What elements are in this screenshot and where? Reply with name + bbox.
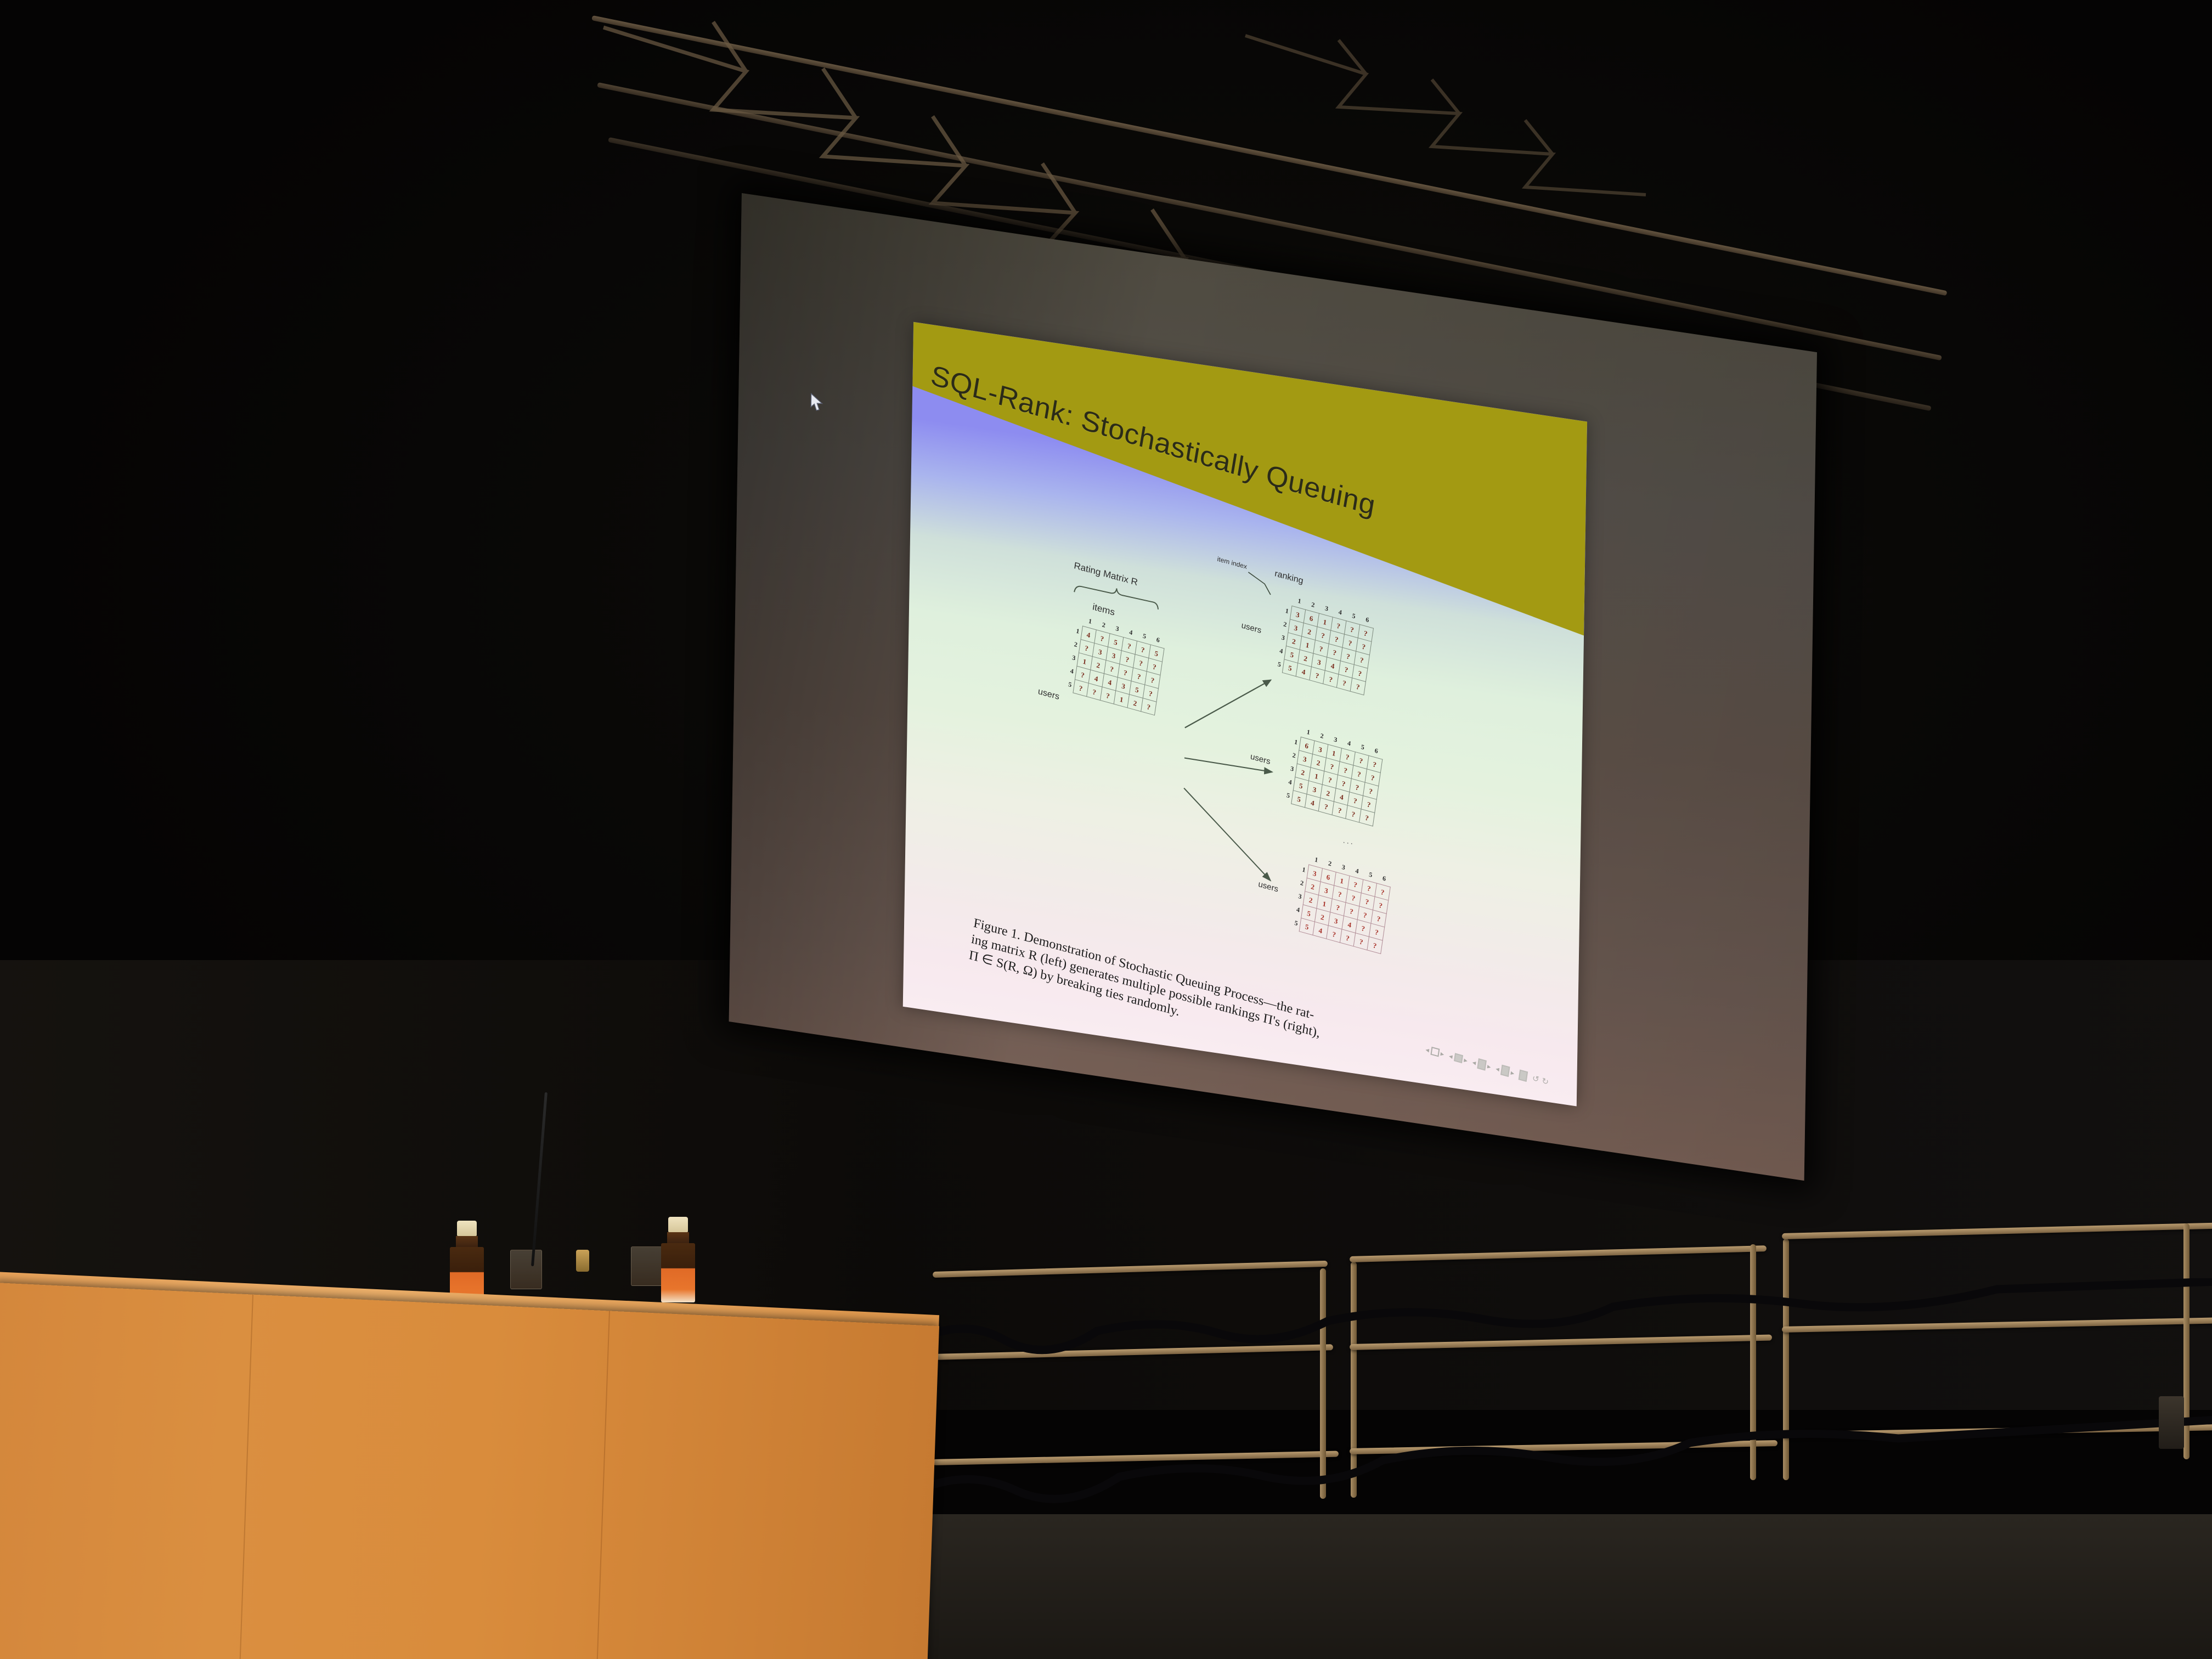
nav-slide-icon[interactable]: [1430, 1047, 1440, 1057]
podium: [0, 1283, 939, 1659]
nav-prev-icon[interactable]: ◂: [1425, 1045, 1430, 1054]
projection-screen-surround: SQL-Rank: Stochastically Queuing: [729, 193, 1817, 1181]
bottle-body-right: [661, 1243, 695, 1302]
tea-bottle-right: [661, 1217, 695, 1302]
nav-next-subsection-icon[interactable]: ▸: [1463, 1056, 1468, 1065]
nav-next-icon[interactable]: ▸: [1440, 1049, 1444, 1058]
bottle-neck: [456, 1236, 478, 1247]
nav-document-icon[interactable]: [1500, 1064, 1509, 1077]
nav-next-document-icon[interactable]: ▸: [1510, 1068, 1515, 1077]
presentation-slide: SQL-Rank: Stochastically Queuing: [903, 322, 1587, 1107]
nav-section-icon[interactable]: [1477, 1058, 1486, 1071]
bottle-neck-right: [667, 1232, 689, 1243]
podium-seam-2: [596, 1311, 611, 1659]
beamer-navigation-bar[interactable]: ◂ ▸ ◂ ▸ ◂ ▸ ◂ ▸ ↺ ↻: [1425, 1044, 1550, 1088]
nav-section-group[interactable]: ◂ ▸: [1471, 1057, 1491, 1072]
nav-prev-subsection-icon[interactable]: ◂: [1448, 1051, 1453, 1060]
matrices-ellipsis: ···: [1342, 837, 1354, 848]
nav-next-section-icon[interactable]: ▸: [1487, 1062, 1492, 1071]
podium-seam: [239, 1295, 254, 1659]
nav-document-group[interactable]: ◂ ▸: [1495, 1063, 1515, 1079]
stage-floor: [905, 1514, 2212, 1659]
mouse-cursor-icon: [810, 393, 825, 414]
truss-bracing-secondary-icon: [1234, 30, 2057, 261]
drinking-glass-left: [510, 1250, 542, 1289]
nav-page-indicator[interactable]: ↺ ↻: [1531, 1073, 1549, 1088]
nav-subsection-group[interactable]: ◂ ▸: [1448, 1051, 1468, 1065]
microphone-base: [576, 1250, 589, 1272]
bottle-cap-icon: [457, 1221, 477, 1236]
nav-prev-document-icon[interactable]: ◂: [1495, 1064, 1500, 1073]
bottle-cap-icon-right: [668, 1217, 688, 1232]
drinking-glass-right: [631, 1246, 663, 1286]
stage-speaker: [2159, 1396, 2184, 1449]
nav-slide-group[interactable]: ◂ ▸: [1425, 1045, 1444, 1059]
nav-prev-section-icon[interactable]: ◂: [1471, 1058, 1476, 1067]
nav-appendix-icon[interactable]: [1519, 1069, 1528, 1082]
nav-subsection-icon[interactable]: [1453, 1053, 1463, 1063]
